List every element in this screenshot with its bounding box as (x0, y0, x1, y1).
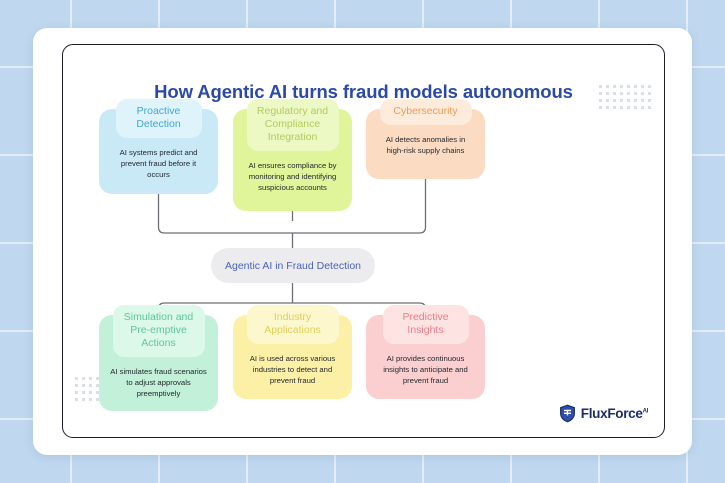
logo-superscript: AI (643, 409, 648, 415)
node-agentic-ai-in-fraud-detection[interactable]: Agentic AI in Fraud Detection (211, 248, 375, 283)
inner-frame: How Agentic AI turns fraud models autono… (62, 44, 665, 438)
node-body: AI is used across various industries to … (233, 344, 352, 397)
logo-name: FluxForce (581, 406, 643, 421)
page-background: How Agentic AI turns fraud models autono… (0, 0, 725, 483)
node-body: AI provides continuous insights to antic… (366, 344, 485, 397)
node-heading: Cybersecurity (380, 99, 472, 125)
node-body: AI systems predict and prevent fraud bef… (99, 138, 218, 191)
node-proactive-detection[interactable]: Proactive Detection AI systems predict a… (99, 109, 218, 194)
node-regulatory-and-compliance-integration[interactable]: Regulatory and Compliance Integration AI… (233, 109, 352, 211)
node-cybersecurity[interactable]: Cybersecurity AI detects anomalies in hi… (366, 109, 485, 179)
node-simulation-and-pre-emptive-actions[interactable]: Simulation and Pre-emptive Actions AI si… (99, 315, 218, 411)
node-heading: Proactive Detection (116, 99, 202, 138)
node-heading: Industry Applications (247, 305, 339, 344)
infographic-card: How Agentic AI turns fraud models autono… (33, 28, 692, 455)
node-body: AI ensures compliance by monitoring and … (233, 151, 352, 204)
node-body: AI simulates fraud scenarios to adjust a… (99, 357, 218, 410)
logo-wordmark: FluxForceAI (581, 406, 648, 421)
brand-logo: FluxForceAI (559, 404, 648, 423)
node-body: AI detects anomalies in high-risk supply… (366, 125, 485, 167)
node-heading: Predictive Insights (383, 305, 469, 344)
shield-icon (559, 404, 576, 423)
node-industry-applications[interactable]: Industry Applications AI is used across … (233, 315, 352, 399)
node-heading: Regulatory and Compliance Integration (247, 99, 339, 151)
node-heading: Simulation and Pre-emptive Actions (113, 305, 205, 357)
node-predictive-insights[interactable]: Predictive Insights AI provides continuo… (366, 315, 485, 399)
center-node-label: Agentic AI in Fraud Detection (225, 260, 361, 272)
